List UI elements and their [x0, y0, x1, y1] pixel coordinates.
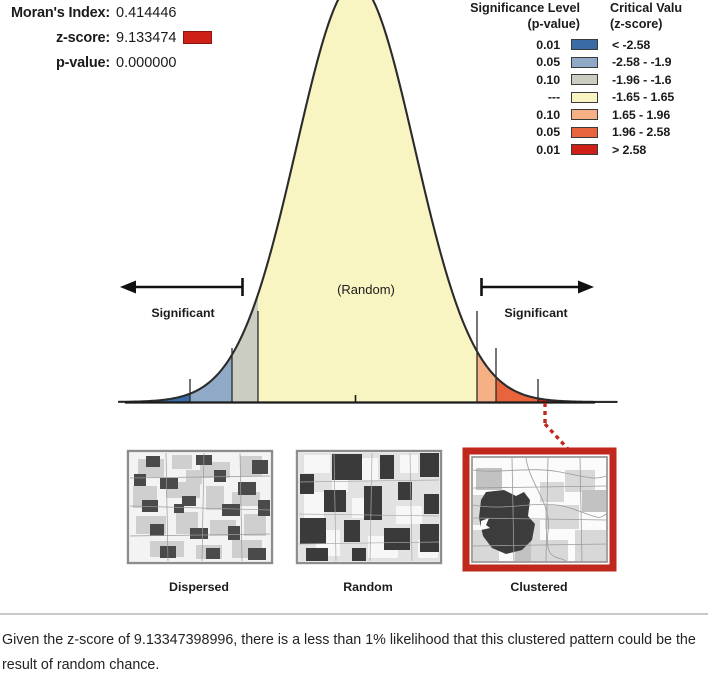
map-caption-dispersed: Dispersed	[169, 580, 229, 594]
spatial-autocorrelation-report-graphic: Significant Significant (Random)	[0, 0, 708, 600]
band-165-196	[477, 0, 496, 402]
right-significant-annotation: Significant	[481, 278, 594, 320]
left-significant-label: Significant	[151, 306, 214, 320]
band-lt-neg258	[118, 0, 190, 402]
left-arrow-head	[120, 281, 136, 294]
map-caption-random: Random	[343, 580, 393, 594]
band-neg196-neg165	[232, 0, 258, 402]
band-neg258-neg196	[190, 0, 232, 402]
band-neg165-165	[258, 0, 477, 402]
footer-divider	[0, 613, 708, 615]
right-significant-label: Significant	[504, 306, 567, 320]
right-arrow-head	[578, 281, 594, 294]
band-196-258	[496, 0, 538, 402]
band-gt-258	[538, 0, 618, 402]
observed-value-connector	[545, 403, 568, 449]
distribution-bands	[118, 0, 618, 402]
connector-diagonal-line	[545, 424, 568, 449]
left-significant-annotation: Significant	[120, 278, 243, 320]
random-center-label: (Random)	[337, 282, 395, 297]
map-thumbnail-dispersed[interactable]: Dispersed	[128, 451, 272, 594]
map-thumbnail-clustered[interactable]: Clustered	[466, 451, 613, 594]
map-thumbnail-random[interactable]: Random	[297, 451, 441, 594]
footer-interpretation-text: Given the z-score of 9.13347398996, ther…	[2, 628, 702, 678]
map-caption-clustered: Clustered	[510, 580, 567, 594]
